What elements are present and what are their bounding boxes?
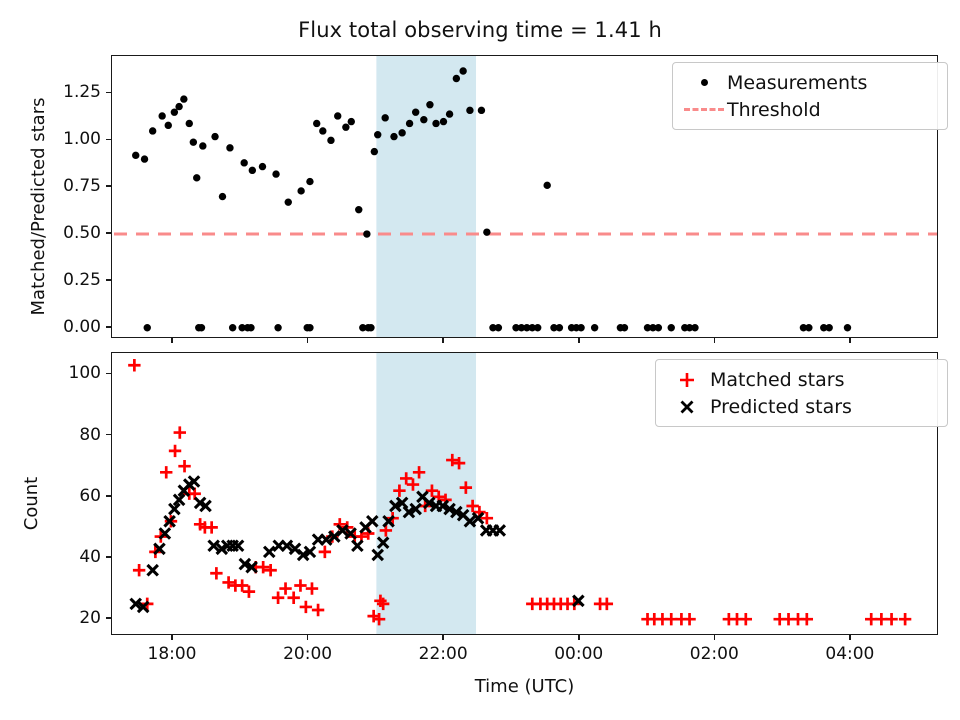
x-axis-tick-mark: [714, 338, 716, 343]
data-point: [149, 127, 156, 134]
data-point: [556, 324, 563, 331]
data-point: [306, 582, 318, 594]
data-point: [381, 114, 388, 121]
data-point: [229, 324, 236, 331]
data-point: [285, 198, 292, 205]
data-point: [264, 547, 274, 557]
top-panel-y-axis-label: Matched/Predicted stars: [28, 65, 49, 348]
y-axis-tick-label: 20: [0, 608, 101, 628]
data-point: [621, 324, 628, 331]
data-point: [297, 187, 304, 194]
data-point: [371, 148, 378, 155]
data-point: [243, 585, 255, 597]
x-axis-tick-mark: [442, 338, 444, 343]
data-point: [128, 359, 140, 371]
bottom-panel-legend: Matched stars Predicted stars: [655, 359, 948, 427]
data-point: [319, 546, 331, 558]
data-point: [466, 107, 473, 114]
data-point: [193, 174, 200, 181]
data-point: [805, 324, 812, 331]
data-point: [825, 324, 832, 331]
x-axis-tick-mark: [171, 338, 173, 343]
y-axis-tick-label: 0.50: [0, 223, 101, 243]
y-axis-tick-mark: [106, 279, 111, 281]
x-axis-tick-label: 02:00: [669, 644, 759, 664]
cross-marker-icon: [664, 397, 710, 417]
y-axis-tick-label: 100: [0, 363, 101, 383]
data-point: [363, 230, 370, 237]
data-point: [175, 103, 182, 110]
y-axis-tick-mark: [106, 617, 111, 619]
y-axis-tick-mark: [106, 232, 111, 234]
x-axis-tick-label: 18:00: [127, 644, 217, 664]
data-point: [495, 525, 505, 535]
data-point: [160, 466, 172, 478]
x-axis-tick-mark: [442, 635, 444, 640]
y-axis-tick-label: 40: [0, 547, 101, 567]
data-point: [355, 206, 362, 213]
data-point: [319, 127, 326, 134]
data-point: [412, 109, 419, 116]
data-point: [367, 324, 374, 331]
y-axis-tick-label: 0.25: [0, 270, 101, 290]
y-axis-tick-label: 80: [0, 425, 101, 445]
data-point: [272, 592, 284, 604]
data-point: [327, 137, 334, 144]
data-point: [406, 120, 413, 127]
y-axis-tick-label: 60: [0, 486, 101, 506]
series-measurements-1: [144, 324, 852, 331]
y-axis-tick-mark: [106, 185, 111, 187]
data-point: [342, 124, 349, 131]
data-point: [165, 122, 172, 129]
y-axis-tick-mark: [106, 139, 111, 141]
data-point: [199, 142, 206, 149]
data-point: [885, 613, 897, 625]
data-point: [459, 67, 466, 74]
data-point: [240, 159, 247, 166]
series-predicted-stars: [131, 476, 584, 612]
data-point: [432, 120, 439, 127]
data-point: [210, 567, 222, 579]
data-point: [591, 324, 598, 331]
data-point: [259, 163, 266, 170]
data-point: [147, 565, 157, 575]
data-point: [205, 521, 217, 533]
x-axis-tick-label: 20:00: [263, 644, 353, 664]
x-axis-tick-label: 04:00: [805, 644, 895, 664]
data-point: [141, 155, 148, 162]
legend-entry-threshold: Threshold: [681, 96, 935, 123]
data-point: [478, 107, 485, 114]
x-axis-tick-mark: [578, 635, 580, 640]
data-point: [801, 613, 813, 625]
x-axis-tick-mark: [171, 635, 173, 640]
x-axis-label: Time (UTC): [111, 676, 938, 697]
y-axis-tick-mark: [106, 373, 111, 375]
data-point: [390, 133, 397, 140]
shaded-time-span: [376, 56, 476, 338]
top-panel-legend: Measurements Threshold: [672, 62, 948, 130]
x-axis-tick-mark: [849, 338, 851, 343]
data-point: [294, 579, 306, 591]
data-point: [144, 324, 151, 331]
x-axis-tick-mark: [578, 338, 580, 343]
data-point: [367, 516, 377, 526]
data-point: [577, 324, 584, 331]
data-point: [534, 324, 541, 331]
legend-label-measurements: Measurements: [727, 72, 867, 94]
y-axis-tick-label: 1.00: [0, 129, 101, 149]
data-point: [446, 110, 453, 117]
data-point: [691, 324, 698, 331]
data-point: [655, 324, 662, 331]
x-axis-tick-label: 22:00: [398, 644, 488, 664]
y-axis-tick-mark: [106, 434, 111, 436]
legend-label-predicted-stars: Predicted stars: [710, 396, 852, 418]
data-point: [348, 118, 355, 125]
data-point: [186, 120, 193, 127]
data-point: [190, 139, 197, 146]
data-point: [158, 112, 165, 119]
legend-entry-matched-stars: Matched stars: [664, 366, 935, 393]
dot-marker-icon: [681, 79, 727, 86]
y-axis-tick-label: 0.00: [0, 317, 101, 337]
y-axis-tick-mark: [106, 326, 111, 328]
data-point: [211, 133, 218, 140]
data-point: [313, 120, 320, 127]
data-point: [543, 182, 550, 189]
data-point: [899, 613, 911, 625]
legend-entry-measurements: Measurements: [681, 69, 935, 96]
data-point: [334, 112, 341, 119]
legend-label-threshold: Threshold: [727, 99, 821, 121]
data-point: [312, 604, 324, 616]
dashed-line-icon: [681, 108, 727, 111]
data-point: [453, 75, 460, 82]
series-measurements-0: [132, 67, 551, 331]
data-point: [174, 426, 186, 438]
data-point: [178, 460, 190, 472]
legend-label-matched-stars: Matched stars: [710, 369, 844, 391]
data-point: [683, 613, 695, 625]
data-point: [219, 193, 226, 200]
data-point: [420, 116, 427, 123]
data-point: [844, 324, 851, 331]
data-point: [740, 613, 752, 625]
data-point: [247, 324, 254, 331]
data-point: [495, 324, 502, 331]
y-axis-tick-mark: [106, 92, 111, 94]
data-point: [132, 152, 139, 159]
x-axis-tick-label: 00:00: [534, 644, 624, 664]
x-axis-tick-mark: [714, 635, 716, 640]
x-axis-tick-mark: [849, 635, 851, 640]
x-axis-tick-mark: [307, 635, 309, 640]
x-axis-tick-mark: [307, 338, 309, 343]
data-point: [180, 95, 187, 102]
y-axis-tick-label: 1.25: [0, 82, 101, 102]
data-point: [374, 131, 381, 138]
data-point: [274, 324, 281, 331]
legend-entry-predicted-stars: Predicted stars: [664, 393, 935, 420]
data-point: [306, 178, 313, 185]
data-point: [249, 167, 256, 174]
data-point: [352, 541, 362, 551]
y-axis-tick-mark: [106, 495, 111, 497]
data-point: [133, 564, 145, 576]
data-point: [236, 579, 248, 591]
plus-marker-icon: [664, 370, 710, 390]
figure-title: Flux total observing time = 1.41 h: [0, 18, 960, 42]
data-point: [169, 445, 181, 457]
data-point: [306, 324, 313, 331]
y-axis-tick-label: 0.75: [0, 176, 101, 196]
data-point: [226, 144, 233, 151]
matplotlib-figure: Flux total observing time = 1.41 h Measu…: [0, 0, 960, 720]
data-point: [287, 592, 299, 604]
data-point: [272, 170, 279, 177]
data-point: [668, 324, 675, 331]
data-point: [171, 109, 178, 116]
data-point: [279, 582, 291, 594]
data-point: [483, 228, 490, 235]
data-point: [426, 101, 433, 108]
data-point: [601, 598, 613, 610]
y-axis-tick-mark: [106, 556, 111, 558]
data-point: [440, 118, 447, 125]
data-point: [198, 324, 205, 331]
data-point: [398, 129, 405, 136]
data-point: [300, 601, 312, 613]
